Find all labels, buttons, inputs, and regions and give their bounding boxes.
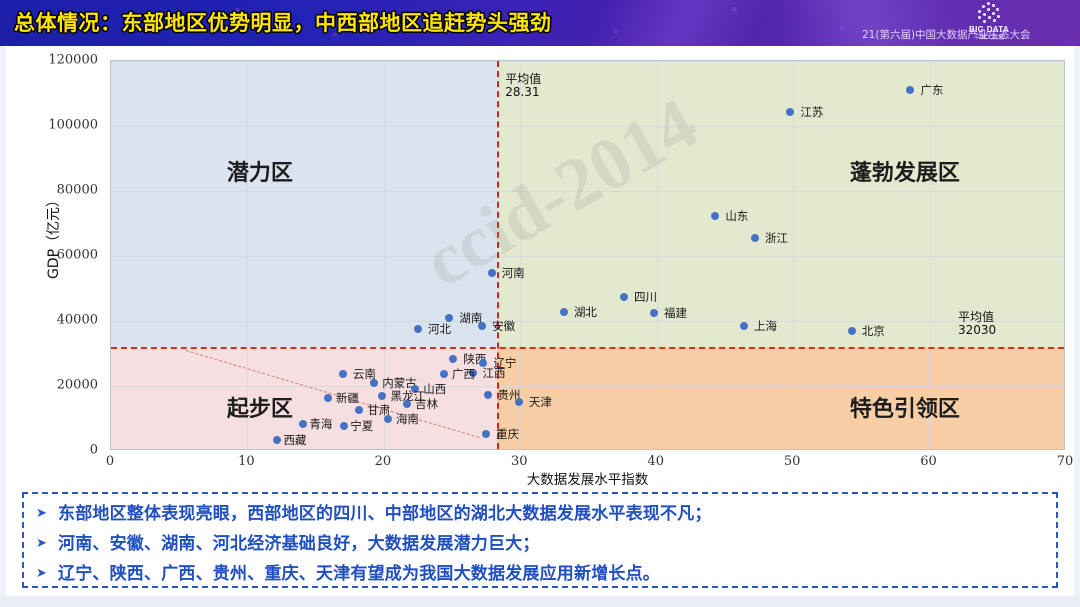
slide-root: 总体情况：东部地区优势明显，中西部地区追赶势头强劲 BIG DATA 中国大数据… [0, 0, 1080, 607]
right-edge-strip [1074, 46, 1080, 596]
data-point-黑龙江 [378, 392, 386, 400]
x-tick-10: 10 [238, 454, 255, 469]
x-average-value: 28.31 [505, 85, 539, 99]
data-point-label-江西: 江西 [483, 365, 506, 381]
conclusion-text-1: 东部地区整体表现亮眼，西部地区的四川、中部地区的湖北大数据发展水平表现不凡； [58, 500, 712, 528]
data-point-label-天津: 天津 [529, 394, 552, 410]
y-tick-0: 0 [90, 443, 98, 458]
y-tick-40000: 40000 [57, 313, 98, 328]
data-point-海南 [384, 415, 392, 423]
data-point-label-新疆: 新疆 [336, 390, 359, 406]
data-point-四川 [620, 293, 628, 301]
quadrant-label-featured: 特色引领区 [850, 391, 960, 423]
y-average-value: 32030 [958, 323, 996, 337]
data-point-广东 [906, 86, 914, 94]
x-tick-50: 50 [784, 454, 801, 469]
plot-area: ccid-2014 广东江苏山东浙江河南四川湖北福建湖南安徽上海河北北京陕西辽宁… [110, 60, 1065, 450]
data-point-label-青海: 青海 [309, 416, 332, 432]
list-item: ➤ 东部地区整体表现亮眼，西部地区的四川、中部地区的湖北大数据发展水平表现不凡； [36, 500, 1044, 529]
list-item: ➤ 辽宁、陕西、广西、贵州、重庆、天津有望成为我国大数据发展应用新增长点。 [36, 560, 1044, 589]
x-tick-70: 70 [1057, 454, 1074, 469]
data-point-label-河北: 河北 [428, 321, 451, 337]
data-point-label-重庆: 重庆 [496, 426, 519, 442]
y-average-label: 平均值 [958, 310, 994, 324]
conclusion-box: ➤ 东部地区整体表现亮眼，西部地区的四川、中部地区的湖北大数据发展水平表现不凡；… [22, 492, 1058, 588]
footer-strip [0, 596, 1080, 607]
y-axis-label: GDP（亿元） [43, 181, 63, 291]
quadrant-label-starting: 起步区 [227, 391, 293, 423]
data-point-label-广西: 广西 [452, 366, 475, 382]
data-point-江苏 [786, 108, 794, 116]
bullet-arrow-icon: ➤ [36, 500, 58, 528]
left-edge-strip [0, 46, 6, 596]
y-tick-20000: 20000 [57, 378, 98, 393]
data-point-福建 [650, 309, 658, 317]
data-point-上海 [740, 322, 748, 330]
bullet-arrow-icon: ➤ [36, 530, 58, 558]
x-tick-30: 30 [511, 454, 528, 469]
quadrant-bottom-right [497, 347, 1065, 450]
x-tick-0: 0 [106, 454, 114, 469]
data-point-label-山东: 山东 [725, 208, 748, 224]
x-tick-60: 60 [920, 454, 937, 469]
data-point-label-福建: 福建 [664, 305, 687, 321]
data-point-label-山西: 山西 [423, 381, 446, 397]
data-point-label-宁夏: 宁夏 [350, 418, 373, 434]
data-point-label-安徽: 安徽 [492, 318, 515, 334]
data-point-河南 [488, 269, 496, 277]
data-point-贵州 [484, 391, 492, 399]
data-point-湖北 [560, 308, 568, 316]
data-point-label-河南: 河南 [502, 265, 525, 281]
data-point-青海 [299, 420, 307, 428]
logo-dots-icon [974, 2, 1004, 24]
x-tick-20: 20 [375, 454, 392, 469]
data-point-浙江 [751, 234, 759, 242]
x-axis-label: 大数据发展水平指数 [110, 468, 1065, 488]
chart-container: 020000400006000080000100000120000 010203… [0, 46, 1080, 481]
data-point-label-西藏: 西藏 [283, 432, 306, 448]
data-point-新疆 [324, 394, 332, 402]
y-average-annotation: 平均值 32030 [958, 311, 996, 337]
slide-header: 总体情况：东部地区优势明显，中西部地区追赶势头强劲 BIG DATA 中国大数据… [0, 0, 1080, 46]
x-average-label: 平均值 [505, 72, 541, 86]
quadrant-label-booming: 蓬勃发展区 [850, 155, 960, 187]
data-point-安徽 [478, 322, 486, 330]
data-point-label-四川: 四川 [634, 289, 657, 305]
data-point-label-吉林: 吉林 [415, 396, 438, 412]
page-title: 总体情况：东部地区优势明显，中西部地区追赶势头强劲 [14, 7, 552, 37]
data-point-label-海南: 海南 [396, 411, 419, 427]
y-tick-100000: 100000 [48, 118, 98, 133]
quadrant-top-left [111, 61, 497, 347]
data-point-label-江苏: 江苏 [800, 104, 823, 120]
conclusion-text-3: 辽宁、陕西、广西、贵州、重庆、天津有望成为我国大数据发展应用新增长点。 [58, 560, 660, 588]
data-point-label-广东: 广东 [920, 82, 943, 98]
data-point-河北 [414, 325, 422, 333]
y-tick-120000: 120000 [48, 53, 98, 68]
data-point-山东 [711, 212, 719, 220]
data-point-label-浙江: 浙江 [765, 230, 788, 246]
data-point-陕西 [449, 355, 457, 363]
quadrant-label-potential: 潜力区 [227, 155, 293, 187]
data-point-甘肃 [355, 406, 363, 414]
bullet-arrow-icon: ➤ [36, 560, 58, 588]
data-point-label-湖北: 湖北 [574, 304, 597, 320]
x-tick-40: 40 [647, 454, 664, 469]
data-point-天津 [515, 398, 523, 406]
conference-name: 21(第六届)中国大数据产业生态大会 [862, 27, 1031, 42]
data-point-宁夏 [340, 422, 348, 430]
conclusion-text-2: 河南、安徽、湖南、河北经济基础良好，大数据发展潜力巨大； [58, 530, 540, 558]
data-point-label-上海: 上海 [754, 318, 777, 334]
data-point-重庆 [482, 430, 490, 438]
data-point-吉林 [403, 400, 411, 408]
list-item: ➤ 河南、安徽、湖南、河北经济基础良好，大数据发展潜力巨大； [36, 530, 1044, 559]
x-average-annotation: 平均值 28.31 [505, 73, 541, 99]
data-point-云南 [339, 370, 347, 378]
data-point-内蒙古 [370, 379, 378, 387]
average-y-reference-line [111, 347, 1064, 349]
data-point-西藏 [273, 436, 281, 444]
data-point-北京 [848, 327, 856, 335]
data-point-label-北京: 北京 [862, 323, 885, 339]
data-point-广西 [440, 370, 448, 378]
